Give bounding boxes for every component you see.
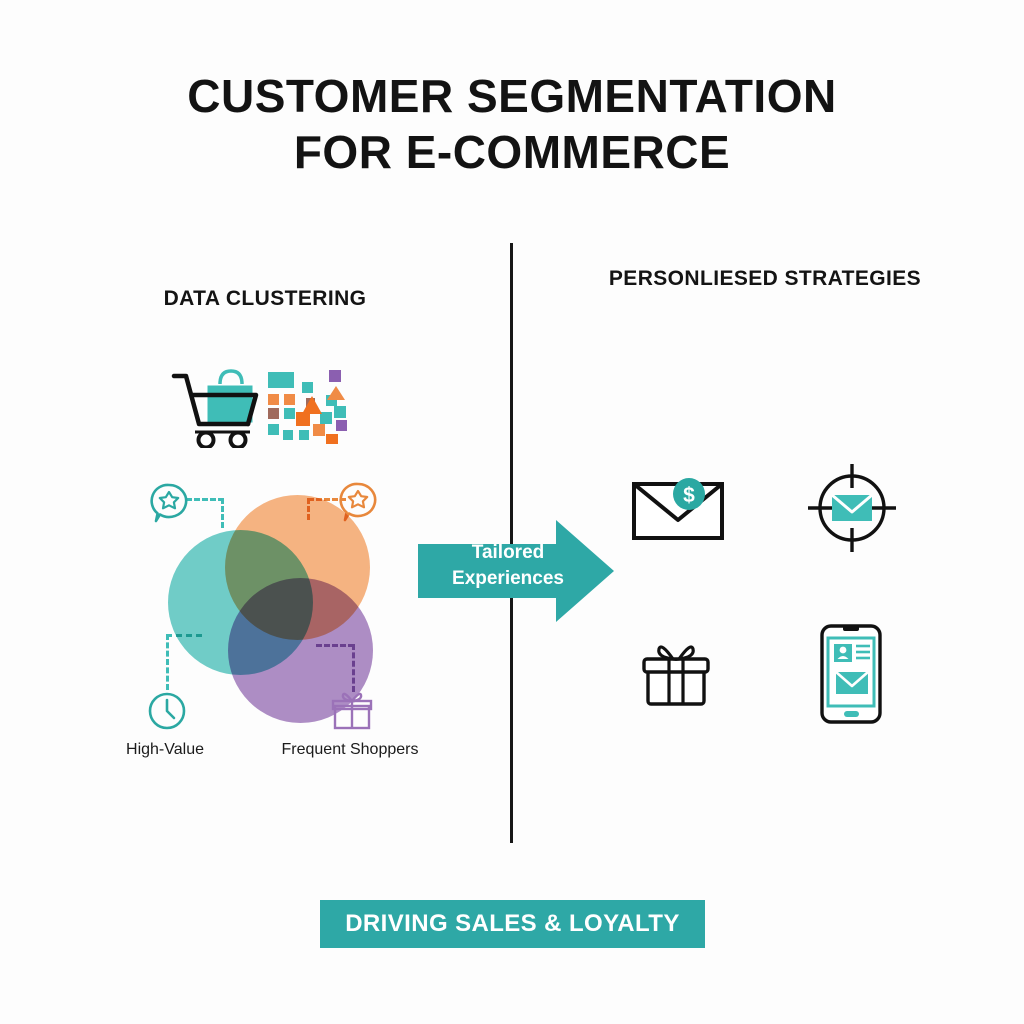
gift-icon [330, 690, 374, 732]
tailored-experiences-arrow: Tailored Experiences [418, 516, 616, 626]
page-title: CUSTOMER SEGMENTATION FOR E-COMMERCE [0, 68, 1024, 180]
gift-reward-icon [640, 642, 712, 708]
data-points-scatter-icon [266, 368, 348, 444]
bottom-banner: DRIVING SALES & LOYALTY [320, 900, 705, 948]
shopping-cart-icon [168, 362, 260, 448]
email-offer-icon: $ [632, 478, 724, 540]
banner-text: DRIVING SALES & LOYALTY [345, 910, 680, 938]
arrow-label-line-2: Experiences [438, 566, 578, 592]
infographic-canvas: CUSTOMER SEGMENTATION FOR E-COMMERCE DAT… [0, 0, 1024, 1024]
clock-icon [146, 690, 188, 732]
title-line-1: CUSTOMER SEGMENTATION [0, 68, 1024, 124]
targeted-email-icon [806, 462, 898, 554]
segment-label-frequent-shoppers: Frequent Shoppers [255, 741, 445, 759]
svg-text:$: $ [683, 484, 695, 507]
title-line-2: FOR E-COMMERCE [0, 124, 1024, 180]
venn-diagram-clusters [150, 470, 400, 690]
arrow-label: Tailored Experiences [438, 540, 578, 592]
section-heading-data-clustering: DATA CLUSTERING [90, 283, 440, 314]
arrow-label-line-1: Tailored [438, 540, 578, 566]
section-heading-personalised-strategies: PERSONLIESED STRATEGIES [590, 263, 940, 294]
mobile-personalisation-icon [820, 624, 882, 724]
segment-label-high-value: High-Value [80, 741, 250, 759]
